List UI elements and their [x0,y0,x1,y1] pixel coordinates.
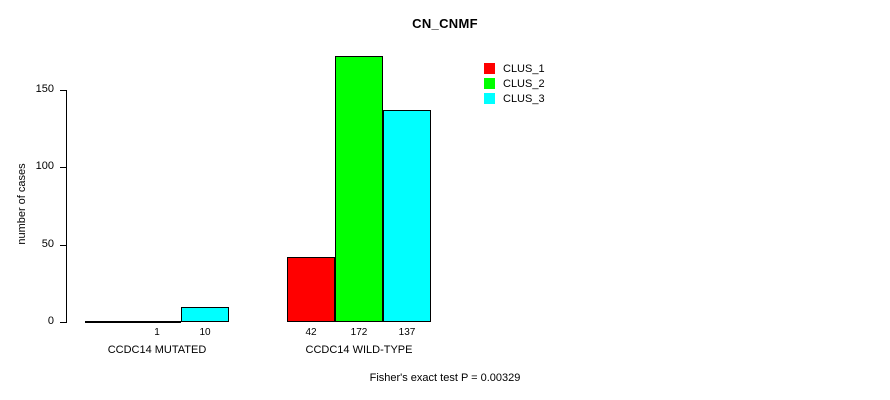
group-label: CCDC14 MUTATED [65,345,249,356]
legend-item: CLUS_3 [484,92,604,106]
legend-swatch-icon [484,93,495,104]
bar-clus_1-0 [85,321,133,323]
bar-value-label: 1 [133,328,181,338]
statistics-annotation: Fisher's exact test P = 0.00329 [33,372,857,384]
legend-item: CLUS_2 [484,77,604,91]
chart-canvas: CN_CNMF number of cases 050100150 110CCD… [0,0,890,400]
chart-legend: CLUS_1CLUS_2CLUS_3 [484,62,604,107]
bar-clus_3-1 [383,110,431,322]
legend-swatch-icon [484,78,495,89]
legend-label: CLUS_2 [503,78,545,90]
bar-value-label: 137 [383,328,431,338]
bar-clus_1-1 [287,257,335,322]
bar-value-label: 42 [287,328,335,338]
legend-label: CLUS_1 [503,63,545,75]
bars-layer: 110CCDC14 MUTATED42172137CCDC14 WILD-TYP… [0,0,890,400]
bar-value-label: 172 [335,328,383,338]
bar-clus_3-0 [181,307,229,322]
group-label: CCDC14 WILD-TYPE [267,345,451,356]
legend-swatch-icon [484,63,495,74]
legend-label: CLUS_3 [503,93,545,105]
bar-clus_2-0 [133,321,181,323]
legend-item: CLUS_1 [484,62,604,76]
bar-value-label: 10 [181,328,229,338]
bar-clus_2-1 [335,56,383,322]
